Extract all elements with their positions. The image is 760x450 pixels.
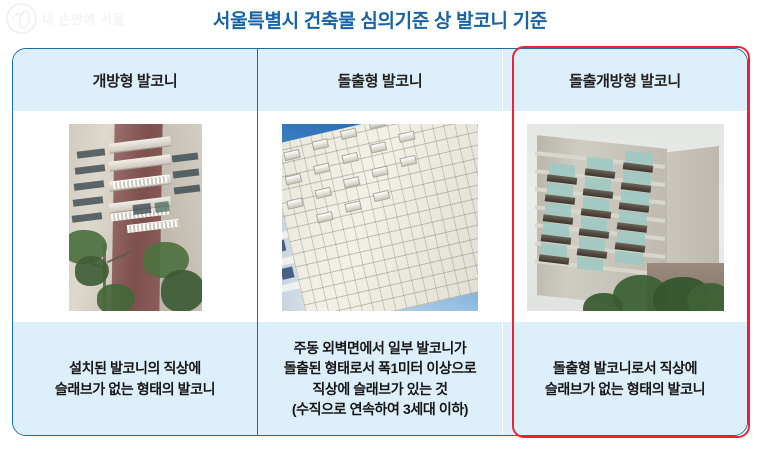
caption-line: 돌출형 발코니로서 직상에 xyxy=(553,358,697,378)
caption-line: 직상에 슬래브가 있는 것 xyxy=(312,379,447,399)
column-caption-open-type: 설치된 발코니의 직상에 슬래브가 없는 형태의 발코니 xyxy=(13,322,257,435)
table-column-open-type: 개방형 발코니 xyxy=(13,49,257,435)
table-grid: 개방형 발코니 xyxy=(13,49,747,435)
photo-cell-open-type xyxy=(13,111,257,322)
caption-line: 슬래브가 없는 형태의 발코니 xyxy=(55,379,215,399)
photo-protruding-open-type-balcony xyxy=(527,124,724,311)
photo-protruding-type-balcony xyxy=(282,124,478,311)
table-column-protruding-type: 돌출형 발코니 xyxy=(257,49,502,435)
caption-line: (수직으로 연속하여 3세대 이하) xyxy=(292,399,468,419)
table-frame: 개방형 발코니 xyxy=(12,48,748,436)
caption-line: 설치된 발코니의 직상에 xyxy=(69,358,201,378)
page-title: 서울특별시 건축물 심의기준 상 발코니 기준 xyxy=(0,6,760,33)
column-caption-protruding-type: 주동 외벽면에서 일부 발코니가 돌출된 형태로서 폭1미터 이상으로 직상에 … xyxy=(258,322,502,435)
balcony-criteria-table: 개방형 발코니 xyxy=(12,48,748,436)
caption-line: 슬래브가 없는 형태의 발코니 xyxy=(545,379,705,399)
column-header-protruding-open-type: 돌출개방형 발코니 xyxy=(503,49,747,111)
table-column-protruding-open-type: 돌출개방형 발코니 xyxy=(502,49,747,435)
column-header-protruding-type: 돌출형 발코니 xyxy=(258,49,502,111)
caption-line: 돌출된 형태로서 폭1미터 이상으로 xyxy=(284,358,477,378)
column-caption-protruding-open-type: 돌출형 발코니로서 직상에 슬래브가 없는 형태의 발코니 xyxy=(503,322,747,435)
caption-line: 주동 외벽면에서 일부 발코니가 xyxy=(294,338,467,358)
photo-open-type-balcony xyxy=(69,124,202,311)
photo-cell-protruding-type xyxy=(258,111,502,322)
column-header-open-type: 개방형 발코니 xyxy=(13,49,257,111)
photo-cell-protruding-open-type xyxy=(503,111,747,322)
